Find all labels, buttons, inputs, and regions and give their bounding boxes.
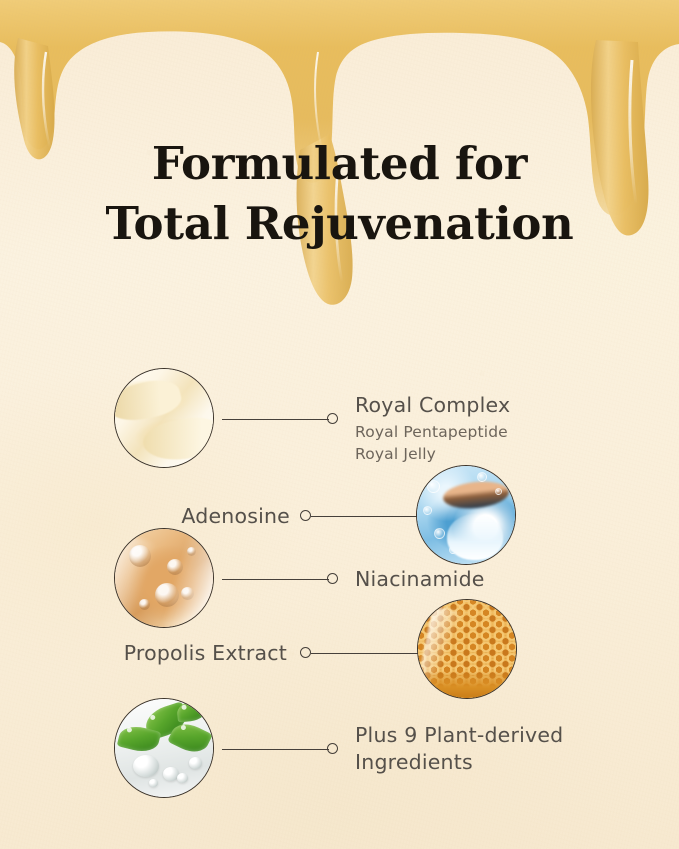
ingredient-label-adenosine: Adenosine bbox=[0, 503, 290, 530]
leaves-water-art bbox=[115, 699, 213, 797]
water-bead bbox=[133, 755, 159, 777]
bubble bbox=[167, 559, 183, 575]
honeycomb-art bbox=[418, 600, 516, 698]
ingredient-label-plant-derived-line2: Ingredients bbox=[355, 749, 473, 776]
connector-line bbox=[222, 749, 329, 750]
bubble bbox=[495, 488, 502, 495]
title-line-1: Formulated for bbox=[0, 134, 679, 194]
connector-adenosine bbox=[300, 510, 420, 522]
niacinamide-amber-bubbles-image bbox=[114, 528, 214, 628]
connector-dot bbox=[300, 647, 311, 658]
water-bead bbox=[189, 757, 202, 769]
ingredient-label-royal-complex: Royal Complex bbox=[355, 392, 510, 419]
bubble bbox=[139, 599, 150, 610]
connector-line bbox=[311, 653, 419, 654]
honey-pool bbox=[418, 672, 516, 698]
connector-line bbox=[311, 516, 418, 517]
bubble bbox=[187, 547, 196, 556]
product-ingredient-infographic: Formulated for Total Rejuvenation Royal … bbox=[0, 0, 679, 849]
page-title: Formulated for Total Rejuvenation bbox=[0, 134, 679, 254]
connector-royal-complex bbox=[222, 413, 340, 425]
title-line-2: Total Rejuvenation bbox=[0, 194, 679, 254]
cream-swirl-art bbox=[115, 369, 213, 467]
bubble bbox=[423, 506, 432, 515]
connector-line bbox=[222, 579, 329, 580]
connector-line bbox=[222, 419, 329, 420]
connector-plant-derived bbox=[222, 743, 342, 755]
ingredient-row-plant-derived: Plus 9 Plant-derived Ingredients bbox=[0, 698, 679, 806]
bubble bbox=[155, 583, 179, 607]
bubble bbox=[181, 587, 194, 600]
connector-propolis-extract bbox=[300, 647, 422, 659]
ingredient-label-plant-derived: Plus 9 Plant-derived bbox=[355, 722, 563, 749]
connector-niacinamide bbox=[222, 573, 342, 585]
plant-derived-leaves-image bbox=[114, 698, 214, 798]
bubble bbox=[129, 545, 151, 567]
propolis-honeycomb-image bbox=[417, 599, 517, 699]
connector-dot bbox=[327, 413, 338, 424]
connector-dot bbox=[300, 510, 311, 521]
ingredient-sublabel-royal-jelly: Royal Jelly bbox=[355, 443, 436, 465]
ingredient-row-royal-complex: Royal Complex Royal Pentapeptide Royal J… bbox=[0, 368, 679, 476]
ingredient-label-propolis-extract: Propolis Extract bbox=[0, 640, 287, 667]
bubble bbox=[477, 472, 487, 482]
connector-dot bbox=[327, 573, 338, 584]
amber-bubbles-art bbox=[115, 529, 213, 627]
royal-complex-cream-swirl-image bbox=[114, 368, 214, 468]
ingredient-label-niacinamide: Niacinamide bbox=[355, 566, 485, 593]
ingredient-list: Royal Complex Royal Pentapeptide Royal J… bbox=[0, 360, 679, 820]
ingredient-sublabel-royal-pentapeptide: Royal Pentapeptide bbox=[355, 421, 508, 443]
bubble bbox=[427, 480, 440, 493]
water-bead bbox=[149, 779, 158, 787]
water-bead bbox=[177, 773, 188, 783]
connector-dot bbox=[327, 743, 338, 754]
